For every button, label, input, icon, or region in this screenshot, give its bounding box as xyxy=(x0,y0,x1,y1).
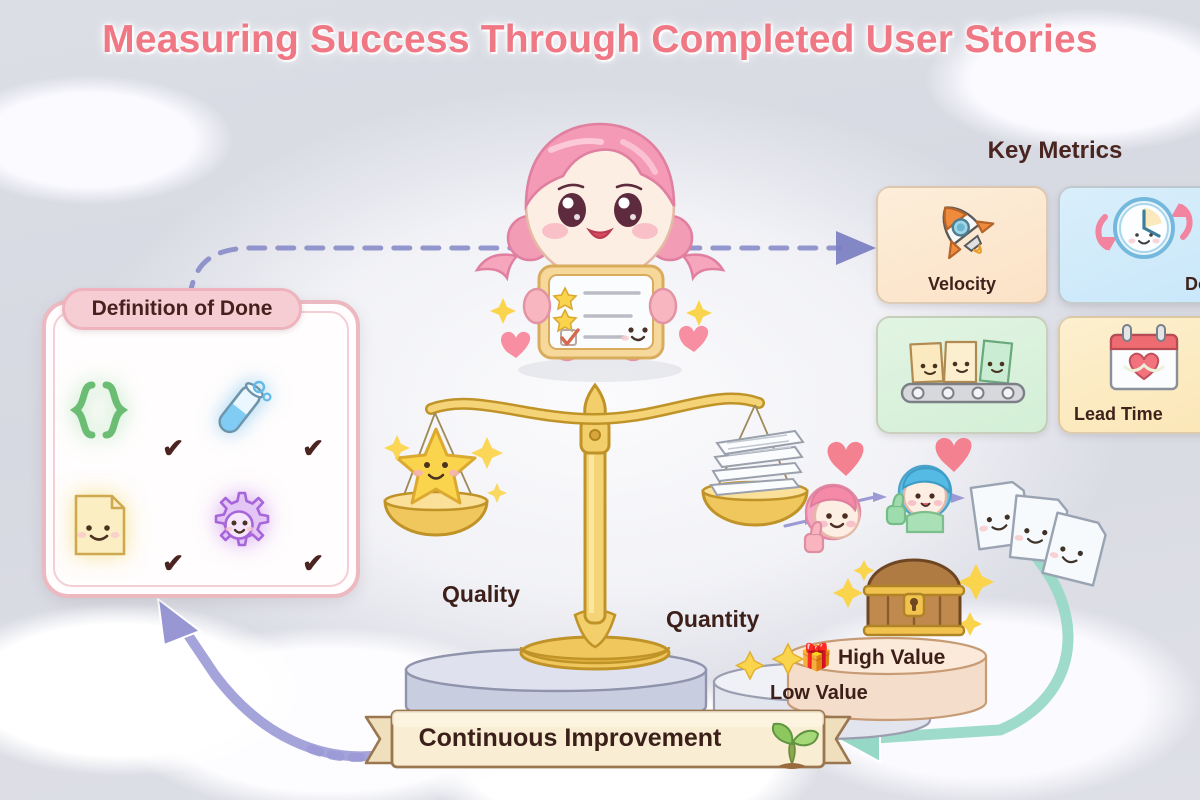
metric-card-done[interactable]: Don xyxy=(1058,186,1200,304)
story-cards-group xyxy=(971,481,1108,586)
scale-label-quantity: Quantity xyxy=(666,606,759,633)
infographic-canvas: Measuring Success Through Completed User… xyxy=(0,0,1200,800)
rocket-icon xyxy=(878,196,1046,262)
metric-label-lead-time: Lead Time xyxy=(1074,404,1200,425)
girl-with-checklist-icon xyxy=(455,88,745,388)
metric-card-velocity[interactable]: Velocity xyxy=(876,186,1048,304)
high-value-label: High Value xyxy=(838,646,945,670)
metric-label-done: Don xyxy=(1185,274,1200,295)
conveyor-belt-icon xyxy=(878,336,1046,402)
dod-check-gear: ✔ xyxy=(302,550,324,576)
metric-card-flow[interactable] xyxy=(876,316,1048,434)
page-title: Measuring Success Through Completed User… xyxy=(0,18,1200,62)
dod-badge: Definition of Done xyxy=(62,288,302,330)
key-metrics-heading: Key Metrics xyxy=(940,137,1170,165)
test-tube-icon xyxy=(202,373,276,447)
metric-card-lead-time[interactable]: Lead Time xyxy=(1058,316,1200,434)
metric-label-velocity: Velocity xyxy=(878,274,1046,295)
dod-icon-grid: ✔ ✔ xyxy=(62,352,342,582)
dod-item-test[interactable]: ✔ xyxy=(202,352,342,467)
code-braces-icon xyxy=(62,373,136,447)
person-blue-thumbsup-icon xyxy=(887,466,951,532)
clock-cycle-icon xyxy=(1060,196,1200,262)
dod-item-code[interactable]: ✔ xyxy=(62,352,202,467)
document-face-icon xyxy=(62,488,136,562)
dod-check-doc: ✔ xyxy=(162,550,184,576)
seedling-icon xyxy=(760,716,830,772)
scale-label-quality: Quality xyxy=(442,581,520,608)
gear-face-icon xyxy=(202,488,276,562)
dod-check-test: ✔ xyxy=(302,435,324,461)
person-pink-thumbsup-icon xyxy=(805,485,860,552)
dod-item-gear[interactable]: ✔ xyxy=(202,467,342,582)
calendar-heart-icon xyxy=(1060,326,1200,392)
feedback-flow-group xyxy=(775,440,1105,600)
dod-item-doc[interactable]: ✔ xyxy=(62,467,202,582)
dod-check-code: ✔ xyxy=(162,435,184,461)
banner-label: Continuous Improvement xyxy=(360,724,780,753)
